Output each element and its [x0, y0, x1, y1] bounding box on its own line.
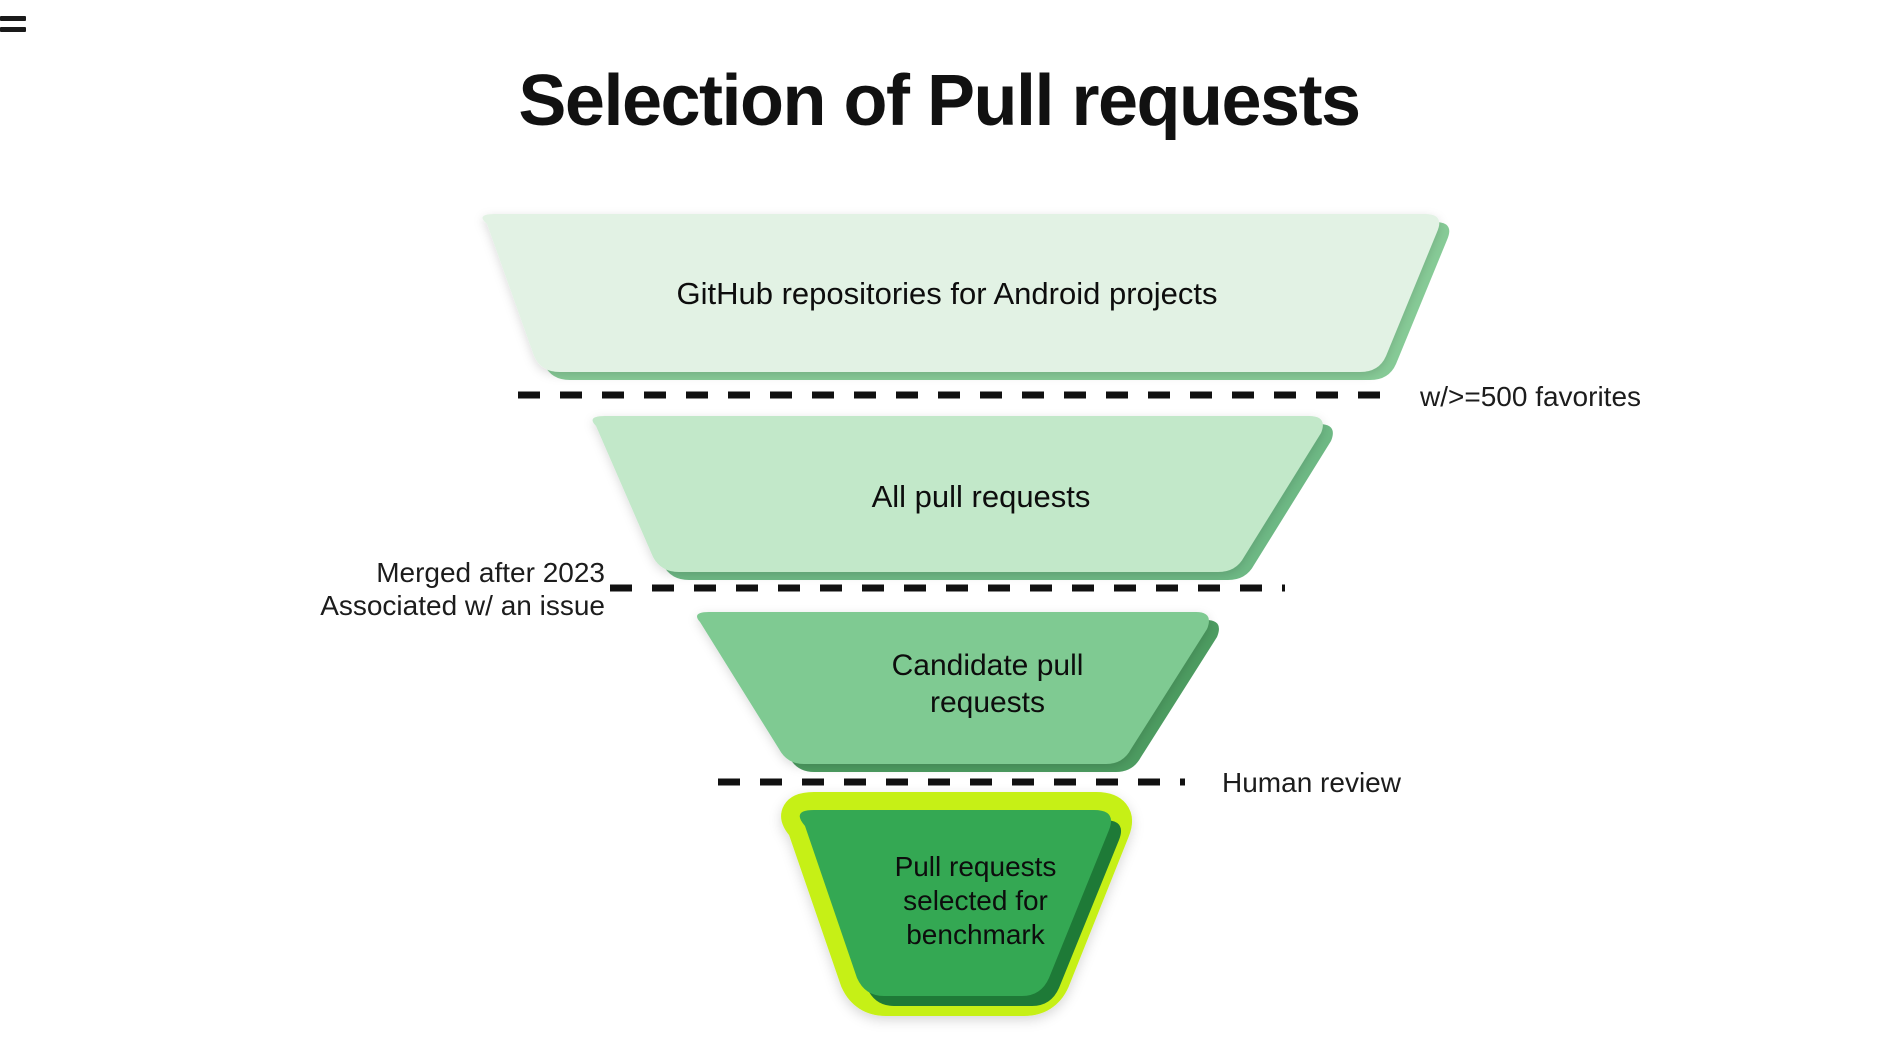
funnel-stage-3-face [697, 612, 1209, 764]
funnel-diagram [0, 0, 1878, 1058]
divider-2-label: Merged after 2023 Associated w/ an issue [250, 556, 605, 622]
funnel-stage-2-face [593, 416, 1323, 572]
divider-2-label-line-1: Merged after 2023 [250, 556, 605, 589]
funnel-stage-4[interactable] [799, 810, 1121, 1006]
slide-canvas: Selection of Pull requests [0, 0, 1878, 1058]
divider-3-label: Human review [1222, 766, 1401, 799]
funnel-stage-3[interactable] [697, 612, 1219, 772]
funnel-stage-1[interactable] [483, 214, 1450, 380]
funnel-stage-2[interactable] [593, 416, 1333, 580]
funnel-stage-1-face [483, 214, 1440, 372]
divider-2-label-line-2: Associated w/ an issue [250, 589, 605, 622]
divider-1-label: w/>=500 favorites [1420, 380, 1641, 413]
